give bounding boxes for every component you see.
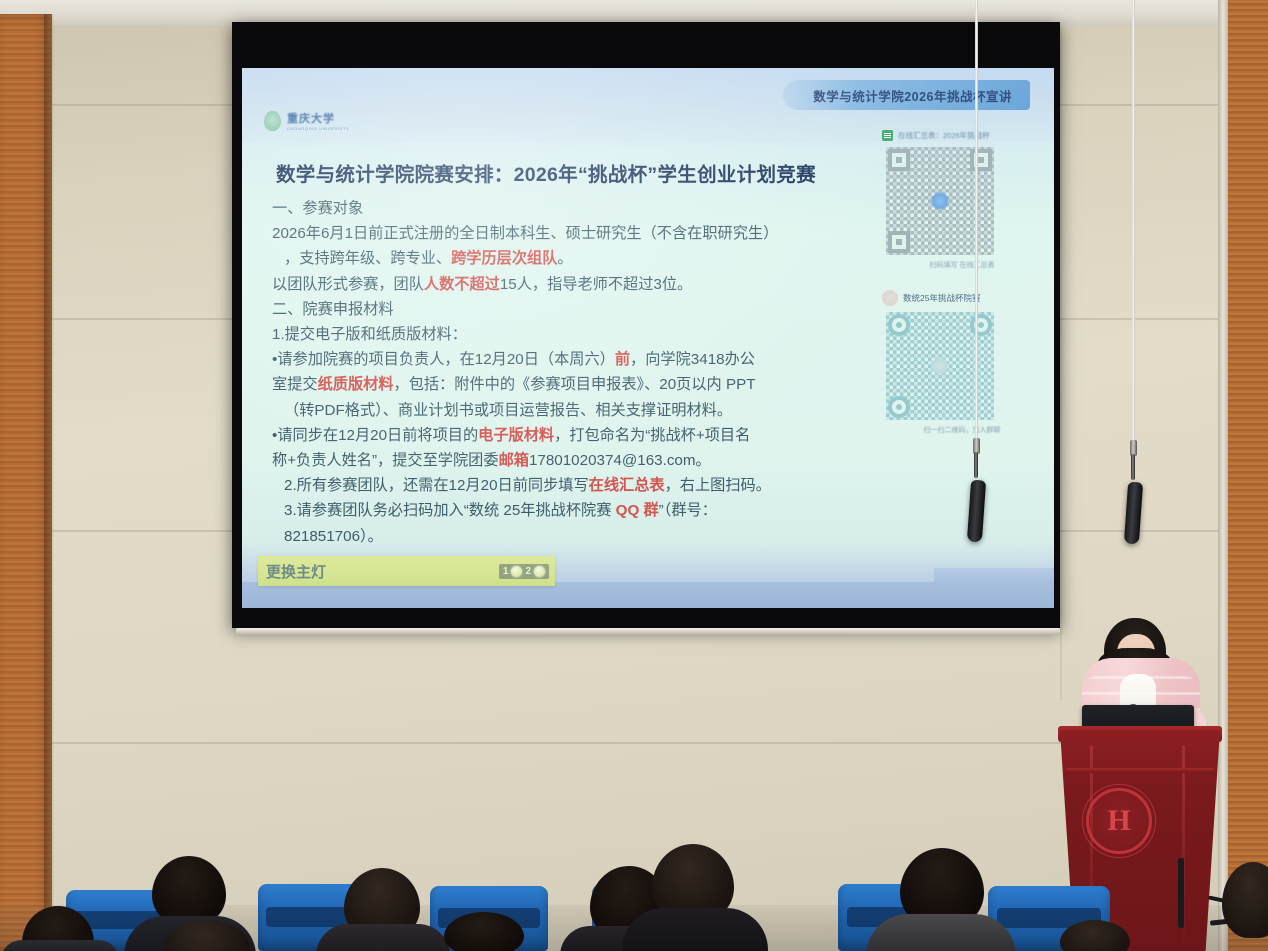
slide-body-line: 以团队形式参赛，团队人数不超过15人，指导老师不超过3位。 (272, 272, 877, 297)
slide-body-line: 2.所有参赛团队，还需在12月20日前同步填写在线汇总表，右上图扫码。 (272, 473, 877, 498)
lamp-step-indicators[interactable]: 1 2 (499, 564, 549, 579)
slide-title: 数学与统计学院院赛安排：2026年“挑战杯”学生创业计划竞赛 (276, 158, 866, 187)
left-wall-edge (44, 14, 54, 951)
lamp-bulb-icon[interactable] (534, 566, 545, 577)
slide-body-line: 2026年6月1日前正式注册的全日制本科生、硕士研究生（不含在职研究生） (272, 221, 877, 246)
university-logo: 重庆大学 CHONGQING UNIVERSITY (264, 110, 349, 131)
highlighted-text: QQ 群 (616, 502, 659, 519)
online-form-caption: 在线汇总表：2026年挑战杯 (882, 130, 1042, 141)
slide-body-line: （转PDF格式）、商业计划书或项目运营报告、相关支撑证明材料。 (272, 398, 877, 423)
podium-emblem-letter: H (1107, 806, 1130, 836)
qq-group-caption-text: 数统25年挑战杯院赛 (903, 292, 980, 304)
qr-finder-icon (970, 149, 992, 171)
qr-finder-icon (970, 314, 992, 336)
wall-panel-line (1060, 0, 1062, 700)
slide-body-line: 821851706）。 (272, 524, 877, 549)
audience-shoulders (316, 924, 450, 951)
university-subtitle: CHONGQING UNIVERSITY (287, 126, 349, 131)
qq-group-footer: 扫一扫二维码，加入群聊 (882, 425, 1042, 435)
university-name: 重庆大学 (287, 110, 349, 126)
projected-slide: 数学与统计学院2026年挑战杯宣讲 重庆大学 CHONGQING UNIVERS… (242, 68, 1054, 608)
qr-column: 在线汇总表：2026年挑战杯 扫码填写 在线汇总表 数统25年挑战杯院赛 扫一扫… (882, 130, 1042, 435)
lamp-control-label: 更换主灯 (266, 561, 326, 582)
slide-banner: 数学与统计学院2026年挑战杯宣讲 (783, 80, 1030, 110)
slide-footer-notch (934, 568, 1054, 582)
highlighted-text: 前 (615, 351, 630, 368)
qr-finder-icon (888, 231, 910, 253)
qr-finder-icon (888, 396, 910, 418)
qr-finder-icon (888, 314, 910, 336)
podium-rail (1066, 768, 1214, 773)
highlighted-text: 纸质版材料 (318, 376, 394, 393)
qr-finder-icon (888, 149, 910, 171)
qq-group-caption: 数统25年挑战杯院赛 (882, 290, 1042, 306)
slide-body-line: 二、院赛申报材料 (272, 297, 877, 322)
lecture-hall-scene: 数学与统计学院2026年挑战杯宣讲 重庆大学 CHONGQING UNIVERS… (0, 0, 1268, 951)
podium-cable (1178, 858, 1184, 928)
spreadsheet-icon (882, 130, 893, 141)
qr-center-logo-icon (930, 191, 950, 211)
slide-banner-text: 数学与统计学院2026年挑战杯宣讲 (813, 86, 1012, 105)
slide-body-line: 一、参赛对象 (272, 196, 877, 221)
highlighted-text: 人数不超过 (424, 276, 500, 293)
highlighted-text: 在线汇总表 (589, 477, 665, 494)
lamp-step-number: 2 (525, 566, 531, 577)
screen-bottom-bar (236, 628, 1060, 635)
highlighted-text: 邮箱 (499, 452, 529, 469)
audience-shoulders (866, 914, 1016, 951)
slide-body-line: 室提交纸质版材料，包括：附件中的《参赛项目申报表》、20页以内 PPT (272, 372, 877, 397)
slide-body-line: •请参加院赛的项目负责人，在12月20日（本周六）前，向学院3418办公 (272, 347, 877, 372)
highlighted-text: 跨学历层次组队 (451, 250, 557, 267)
podium-emblem: H (1086, 788, 1152, 854)
online-form-footer: 扫码填写 在线汇总表 (882, 260, 1042, 270)
qq-avatar-icon (882, 290, 898, 306)
slide-body-line: •请同步在12月20日前将项目的电子版材料，打包命名为“挑战杯+项目名 (272, 423, 877, 448)
slide-body-line: ，支持跨年级、跨专业、跨学历层次组队。 (272, 246, 877, 271)
slide-body-line: 3.请参赛团队务必扫码加入“数统 25年挑战杯院赛 QQ 群”（群号： (272, 498, 877, 523)
lamp-bulb-icon[interactable] (511, 566, 522, 577)
audience-shoulders (0, 940, 120, 951)
highlighted-text: 电子版材料 (478, 427, 554, 444)
lamp-control-overlay[interactable]: 更换主灯 1 2 (258, 556, 555, 586)
slide-body: 一、参赛对象 2026年6月1日前正式注册的全日制本科生、硕士研究生（不含在职研… (272, 196, 877, 549)
slide-body-line: 1.提交电子版和纸质版材料： (272, 322, 877, 347)
slide-body-line: 称+负责人姓名”，提交至学院团委邮箱17801020374@163.com。 (272, 448, 877, 473)
audience-shoulders (622, 908, 768, 951)
qr-center-logo-icon (930, 356, 950, 376)
university-emblem-icon (264, 111, 281, 131)
lamp-step-number: 1 (503, 566, 509, 577)
